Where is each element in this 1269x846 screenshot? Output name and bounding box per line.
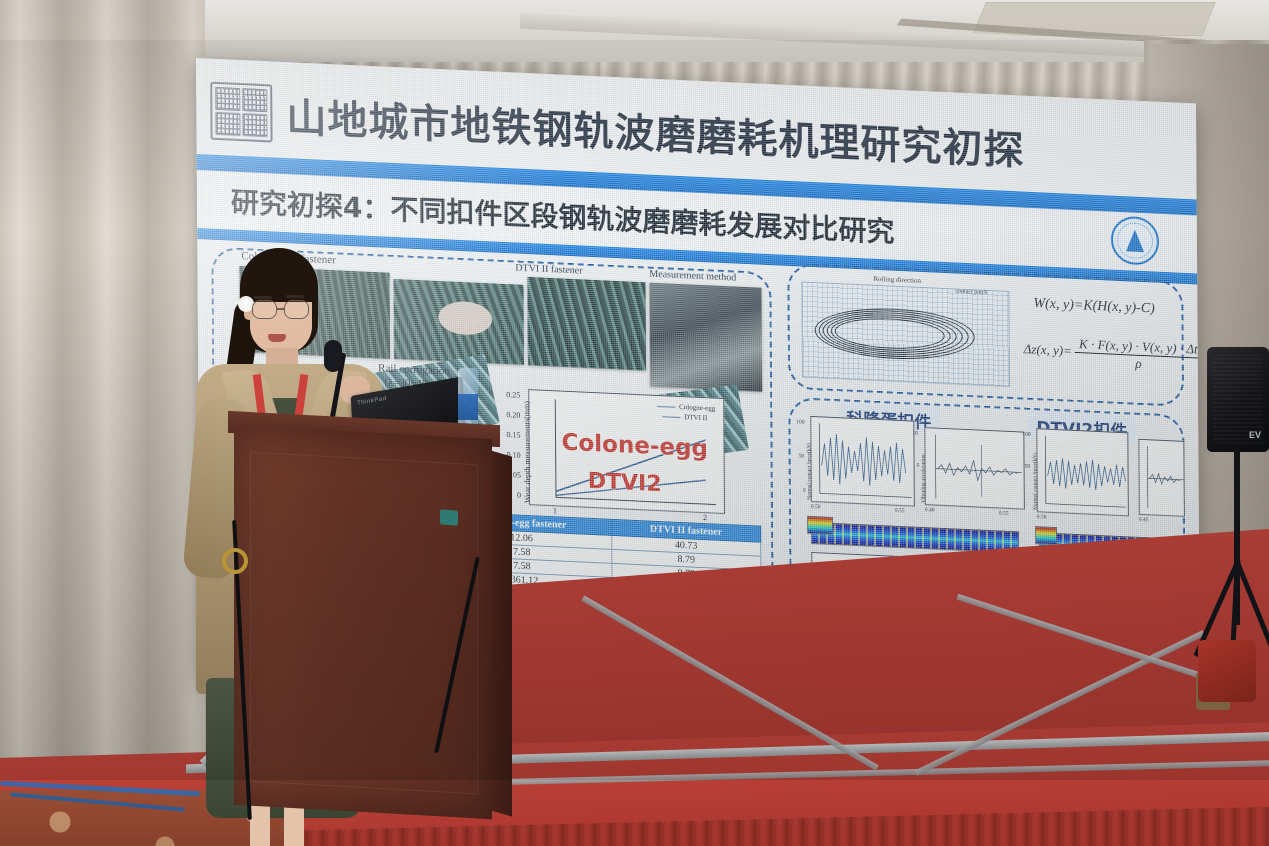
water-bottle-label <box>458 394 478 420</box>
podium <box>228 418 500 818</box>
chinese-seal-logo <box>210 82 272 143</box>
accel-y-tick-0-1: 0 <box>917 463 920 469</box>
laptop-brand-logo: ThinkPad <box>357 396 387 407</box>
plot-accel-cologne-egg <box>924 427 1025 510</box>
plot-force-y-label-2: Normal contact force(kN) <box>1032 453 1038 510</box>
force-y-tick-0-1: 0 <box>803 488 806 494</box>
x-tick-2: 2 <box>703 513 707 522</box>
plot-force-cologne-egg <box>810 416 915 507</box>
colorbar-dtvi2 <box>1035 526 1057 545</box>
chart-y-axis-label: Wear depth measurements(mm) <box>522 401 532 503</box>
photo-fastener-closeup <box>393 279 524 365</box>
force-y-tick-100-2: 100 <box>1022 432 1030 438</box>
pa-speaker-badge: EV <box>1249 430 1261 440</box>
y-tick-020: 0.20 <box>506 410 520 420</box>
eyebrow-right <box>286 295 304 298</box>
photo-measurement-method <box>649 283 762 392</box>
mouth <box>268 334 286 342</box>
plot-accel-dtvi2 <box>1138 439 1185 517</box>
cable-coil-ring <box>222 548 248 574</box>
force-x-tick-055-1: 0.55 <box>895 508 905 514</box>
force-x-tick-050-2: 0.50 <box>1037 514 1047 520</box>
plot-force-y-label-1: Normal contact force(kN) <box>806 443 812 500</box>
force-y-tick-50-1: 50 <box>799 453 805 459</box>
legend-label-cologne-egg: Cologne-egg <box>679 403 715 413</box>
y-tick-015: 0.15 <box>506 430 520 440</box>
force-x-tick-050-1: 0.50 <box>811 504 821 510</box>
contact-patch-mesh-figure <box>801 282 1010 387</box>
plot-accel-y-label-1: Vibrating acceleration <box>921 454 927 503</box>
y-tick-0: 0 <box>517 491 521 500</box>
wear-depth-chart: Cologne-egg DTVI II Colone-egg DTVI2 <box>528 389 725 514</box>
eyebrow-left <box>254 296 272 299</box>
microphone-head <box>324 340 342 372</box>
university-emblem <box>1111 216 1159 266</box>
accel-x-tick-055-1: 0.55 <box>999 510 1009 516</box>
pa-speaker: EV <box>1207 347 1269 452</box>
presentation-photo-scene: 山地城市地铁钢轨波磨磨耗机理研究初探 研究初探4：不同扣件区段钢轨波磨磨耗发展对… <box>0 0 1269 846</box>
eyeglasses <box>250 300 314 320</box>
accel-x-tick-040-1: 0.40 <box>925 507 935 513</box>
y-tick-025: 0.25 <box>506 390 520 400</box>
left-curtain <box>0 0 205 790</box>
plot-force-dtvi2 <box>1036 428 1129 516</box>
force-y-tick-50-2: 50 <box>1025 464 1031 470</box>
legend-label-dtvi: DTVI II <box>684 413 707 422</box>
x-tick-1: 1 <box>553 506 557 515</box>
force-y-tick-100-1: 100 <box>796 419 804 425</box>
podium-badge <box>440 509 458 525</box>
colorbar-cologne-egg <box>807 516 833 535</box>
overlay-label-dtvi2: DTVI2 <box>588 469 662 497</box>
accel-x-tick-2: 0.45 <box>1139 517 1149 523</box>
accel-y-tick-10-1: 10 <box>912 431 918 437</box>
podium-front-panel <box>250 452 478 795</box>
photo-dtvi-fastener <box>527 277 646 370</box>
red-bag <box>1198 640 1256 702</box>
